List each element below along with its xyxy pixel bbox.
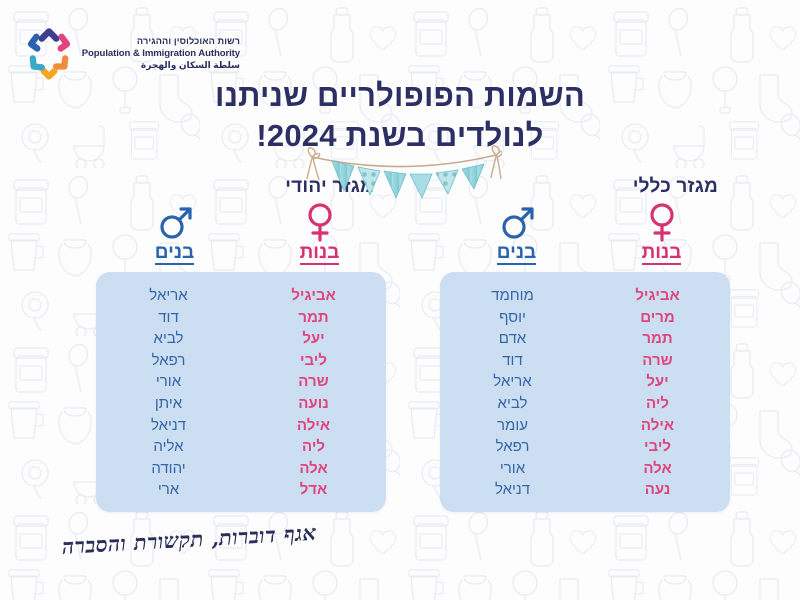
star-of-david-chevrons-logo-icon bbox=[22, 26, 76, 80]
list-item: דוד bbox=[502, 350, 523, 372]
list-item: ליה bbox=[302, 436, 325, 458]
column-head-jewish-girls-label: בנות bbox=[300, 243, 340, 265]
footer-department-signature: אגף דוברות, תקשורת והסברה bbox=[61, 520, 317, 560]
list-item: יעל bbox=[646, 371, 668, 393]
list-item: יוסף bbox=[499, 307, 526, 329]
list-item: לביא bbox=[498, 393, 528, 415]
name-list-jewish-girls: אביגיל תמר יעל ליבי שרה נועה אילה ליה אל… bbox=[241, 285, 386, 502]
list-item: אילה bbox=[297, 415, 330, 437]
list-item: נעה bbox=[645, 479, 671, 501]
list-item: אלה bbox=[643, 458, 671, 480]
list-item: אביגיל bbox=[291, 285, 335, 307]
list-item: אריאל bbox=[493, 371, 531, 393]
column-head-general-girls: בנות bbox=[589, 202, 734, 265]
list-item: ארי bbox=[158, 479, 179, 501]
list-item: אדם bbox=[499, 328, 526, 350]
list-item: ליבי bbox=[644, 436, 671, 458]
logo-english-name: Population & Immigration Authority bbox=[82, 48, 240, 60]
list-item: רפאל bbox=[496, 436, 530, 458]
list-item: אליה bbox=[153, 436, 183, 458]
logo-text-block: רשות האוכלוסין וההגירה Population & Immi… bbox=[82, 34, 240, 72]
list-item: אריאל bbox=[149, 285, 187, 307]
list-item: תמר bbox=[298, 307, 328, 329]
name-card-jewish: אביגיל תמר יעל ליבי שרה נועה אילה ליה אל… bbox=[96, 272, 386, 512]
column-head-general-boys-label: בנים bbox=[497, 243, 536, 265]
list-item: רפאל bbox=[152, 350, 186, 372]
bunting-garland-decoration bbox=[306, 143, 502, 207]
mars-symbol-icon bbox=[158, 202, 192, 242]
column-head-jewish-boys-label: בנים bbox=[155, 243, 194, 265]
list-item: לביא bbox=[154, 328, 184, 350]
sector-jewish-column-heads: בנות בנים bbox=[102, 202, 392, 265]
name-list-general-girls: אביגיל מרים תמר שרה יעל ליה אילה ליבי אל… bbox=[585, 285, 730, 502]
list-item: תמר bbox=[642, 328, 672, 350]
page-title-line-1: השמות הפופולריים שניתנו bbox=[0, 76, 800, 116]
list-item: אורי bbox=[156, 371, 181, 393]
list-item: מוחמד bbox=[491, 285, 534, 307]
list-item: איתן bbox=[155, 393, 182, 415]
venus-symbol-icon bbox=[645, 202, 679, 242]
name-list-jewish-boys: אריאל דוד לביא רפאל אורי איתן דניאל אליה… bbox=[96, 285, 241, 502]
list-item: נועה bbox=[298, 393, 328, 415]
list-item: יעל bbox=[302, 328, 324, 350]
column-head-jewish-boys: בנים bbox=[102, 202, 247, 265]
list-item: אורי bbox=[500, 458, 525, 480]
list-item: מרים bbox=[640, 307, 675, 329]
list-item: שרה bbox=[642, 350, 672, 372]
list-item: אילה bbox=[641, 415, 674, 437]
list-item: שרה bbox=[298, 371, 328, 393]
list-item: דוד bbox=[158, 307, 179, 329]
logo-arabic-name: سلطة السكان والهجرة bbox=[82, 60, 240, 72]
sector-general-column-heads: בנות בנים bbox=[444, 202, 734, 265]
column-head-general-boys: בנים bbox=[444, 202, 589, 265]
name-card-general: אביגיל מרים תמר שרה יעל ליה אילה ליבי אל… bbox=[440, 272, 730, 512]
column-head-jewish-girls: בנות bbox=[247, 202, 392, 265]
mars-symbol-icon bbox=[500, 202, 534, 242]
column-head-general-girls-label: בנות bbox=[642, 243, 682, 265]
list-item: אביגיל bbox=[635, 285, 679, 307]
list-item: עומר bbox=[497, 415, 528, 437]
list-item: דניאל bbox=[495, 479, 530, 501]
list-item: ליה bbox=[646, 393, 669, 415]
list-item: אלה bbox=[299, 458, 327, 480]
list-item: יהודה bbox=[151, 458, 185, 480]
venus-symbol-icon bbox=[303, 202, 337, 242]
logo-hebrew-name: רשות האוכלוסין וההגירה bbox=[82, 36, 240, 48]
list-item: דניאל bbox=[151, 415, 186, 437]
name-list-general-boys: מוחמד יוסף אדם דוד אריאל לביא עומר רפאל … bbox=[440, 285, 585, 502]
list-item: ליבי bbox=[300, 350, 327, 372]
list-item: אדל bbox=[300, 479, 328, 501]
